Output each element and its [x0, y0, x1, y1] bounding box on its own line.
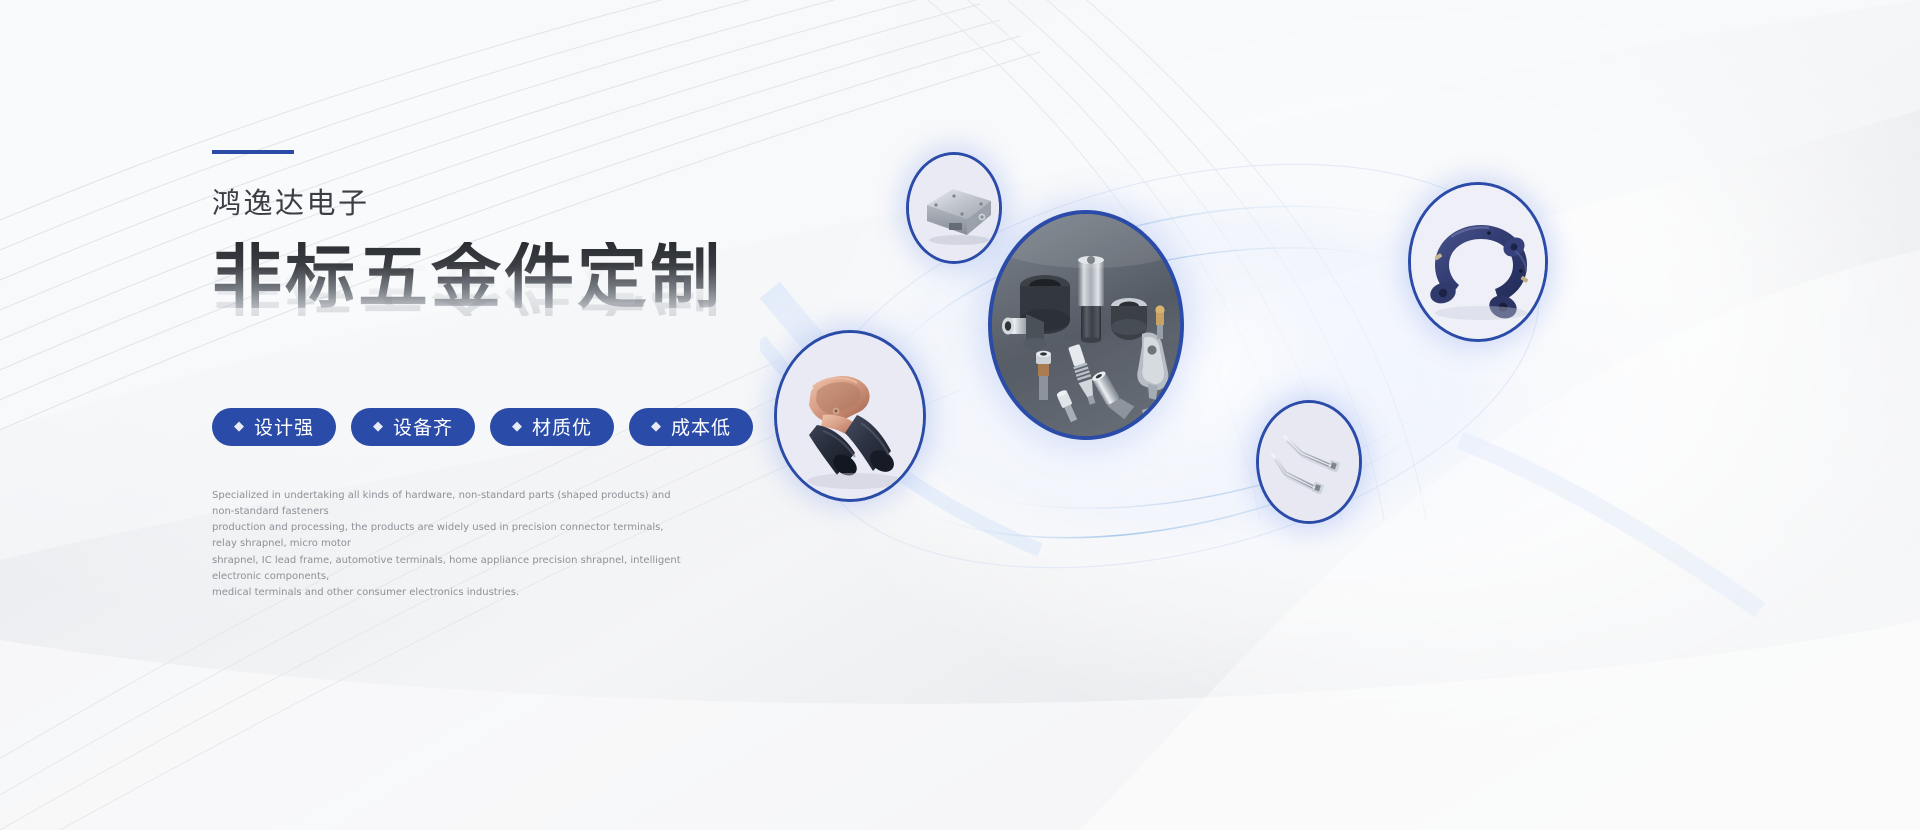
description-line: medical terminals and other consumer ele… — [212, 585, 682, 601]
bent-metal-terminal-pins-image — [1259, 403, 1359, 521]
feature-pill-design[interactable]: ◆ 设计强 — [212, 408, 336, 446]
feature-pill-cost[interactable]: ◆ 成本低 — [629, 408, 753, 446]
diamond-icon: ◆ — [651, 420, 662, 433]
product-showcase — [760, 140, 1780, 640]
feature-pill-material[interactable]: ◆ 材质优 — [490, 408, 614, 446]
feature-pill-equipment[interactable]: ◆ 设备齐 — [351, 408, 475, 446]
blue-retaining-ring-bracket-image — [1411, 185, 1545, 339]
product-circle-retaining-ring[interactable] — [1408, 182, 1548, 342]
feature-pill-label: 设计强 — [254, 413, 314, 440]
metal-enclosure-box-image — [909, 155, 999, 261]
description-line: Specialized in undertaking all kinds of … — [212, 488, 682, 520]
brand-name: 鸿逸达电子 — [212, 188, 832, 220]
hero-banner: 鸿逸达电子 非标五金件定制 非标五金件定制 ◆ 设计强 ◆ 设备齐 ◆ 材质优 … — [0, 0, 1920, 830]
description-line: shrapnel, IC lead frame, automotive term… — [212, 553, 682, 585]
feature-pill-label: 设备齐 — [393, 413, 453, 440]
feature-pill-list: ◆ 设计强 ◆ 设备齐 ◆ 材质优 ◆ 成本低 — [212, 408, 832, 446]
product-circle-terminal-pins[interactable] — [1256, 400, 1362, 524]
description-paragraph: Specialized in undertaking all kinds of … — [212, 488, 682, 601]
product-circle-enclosure[interactable] — [906, 152, 1002, 264]
diamond-icon: ◆ — [512, 420, 523, 433]
hero-text-column: 鸿逸达电子 非标五金件定制 非标五金件定制 ◆ 设计强 ◆ 设备齐 ◆ 材质优 … — [212, 150, 832, 601]
feature-pill-label: 材质优 — [532, 413, 592, 440]
headline-wrapper: 非标五金件定制 非标五金件定制 — [212, 242, 832, 372]
diamond-icon: ◆ — [234, 420, 245, 433]
machined-metal-parts-group-image — [992, 214, 1180, 436]
accent-bar — [212, 150, 294, 154]
feature-pill-label: 成本低 — [671, 413, 731, 440]
headline-reflection: 非标五金件定制 — [212, 258, 723, 315]
diamond-icon: ◆ — [373, 420, 384, 433]
product-circle-machined-parts[interactable] — [988, 210, 1184, 440]
description-line: production and processing, the products … — [212, 520, 682, 552]
